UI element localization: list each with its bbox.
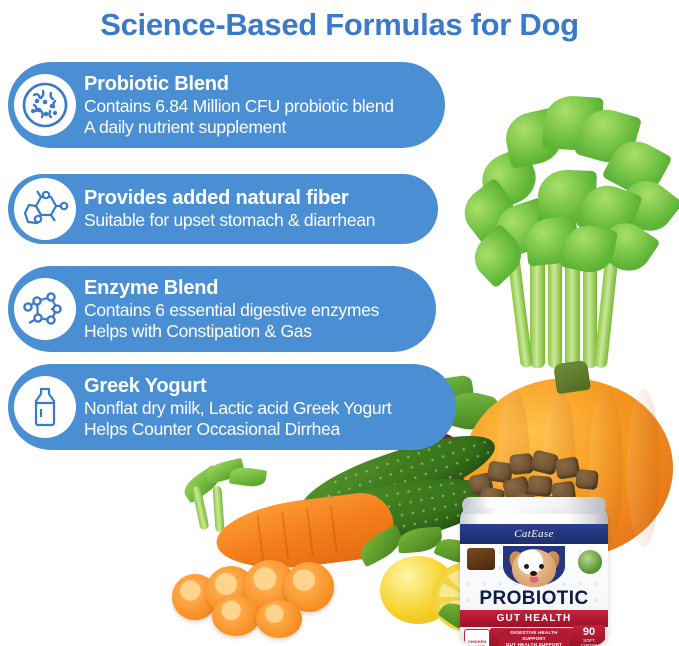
feature-line: Contains 6.84 Million CFU probiotic blen… (84, 96, 427, 117)
bacteria-culture-icon (14, 74, 76, 136)
feature-line: Nonflat dry milk, Lactic acid Greek Yogu… (84, 398, 438, 419)
carrot-slice-image (212, 596, 260, 636)
milk-bottle-icon (14, 376, 76, 438)
quality-seal-icon (577, 549, 603, 575)
feature-line: Suitable for upset stomach & diarrhean (84, 210, 420, 231)
dog-photo (512, 549, 556, 587)
flavor-tag: CHICKEN FLAVOR (464, 629, 490, 646)
feature-title: Provides added natural fiber (84, 187, 420, 210)
celery-sprig-image (229, 466, 267, 489)
celery-stalk-image (212, 486, 224, 533)
jar-body: CatEase PROBIOTIC GUT HEALTH DIGESTIVE H… (460, 507, 608, 646)
flavor-tag-label: CHICKEN FLAVOR (465, 639, 489, 646)
product-jar: CatEase PROBIOTIC GUT HEALTH DIGESTIVE H… (460, 497, 608, 646)
claim-item: DIGESTIVE HEALTH SUPPORT (498, 630, 570, 642)
molecule-nodes-icon (14, 278, 76, 340)
feature-card-natural-fiber[interactable]: Provides added natural fiber Suitable fo… (8, 174, 438, 244)
feature-card-text: Probiotic Blend Contains 6.84 Million CF… (84, 73, 445, 138)
feature-card-text: Greek Yogurt Nonflat dry milk, Lactic ac… (84, 375, 456, 440)
carrot-slice-image (256, 600, 302, 638)
brand-emblem-icon (466, 547, 496, 571)
count-number: 90 (576, 627, 602, 638)
celery-bunch-image (452, 58, 679, 368)
molecule-rings-icon (14, 178, 76, 240)
feature-card-text: Enzyme Blend Contains 6 essential digest… (84, 277, 436, 342)
feature-card-probiotic-blend[interactable]: Probiotic Blend Contains 6.84 Million CF… (8, 62, 445, 148)
count-unit: SOFT CHEWS (576, 638, 602, 646)
feature-line: Helps with Constipation & Gas (84, 321, 418, 342)
claims-list: DIGESTIVE HEALTH SUPPORT GUT HEALTH SUPP… (498, 630, 570, 646)
feature-line: A daily nutrient supplement (84, 117, 427, 138)
feature-title: Greek Yogurt (84, 375, 438, 398)
pumpkin-stem (553, 360, 591, 394)
product-name: PROBIOTIC (460, 588, 608, 610)
count-badge: 90 SOFT CHEWS (576, 627, 602, 646)
brand-logo: CatEase (460, 525, 608, 543)
claim-item: GUT HEALTH SUPPORT (498, 642, 570, 646)
feature-card-greek-yogurt[interactable]: Greek Yogurt Nonflat dry milk, Lactic ac… (8, 364, 456, 450)
jar-rim (463, 508, 605, 514)
feature-line: Contains 6 essential digestive enzymes (84, 300, 418, 321)
feature-card-enzyme-blend[interactable]: Enzyme Blend Contains 6 essential digest… (8, 266, 436, 352)
feature-title: Probiotic Blend (84, 73, 427, 96)
gut-health-banner-label: GUT HEALTH (497, 613, 572, 624)
feature-card-text: Provides added natural fiber Suitable fo… (84, 187, 438, 231)
feature-title: Enzyme Blend (84, 277, 418, 300)
feature-line: Helps Counter Occasional Dirrhea (84, 419, 438, 440)
